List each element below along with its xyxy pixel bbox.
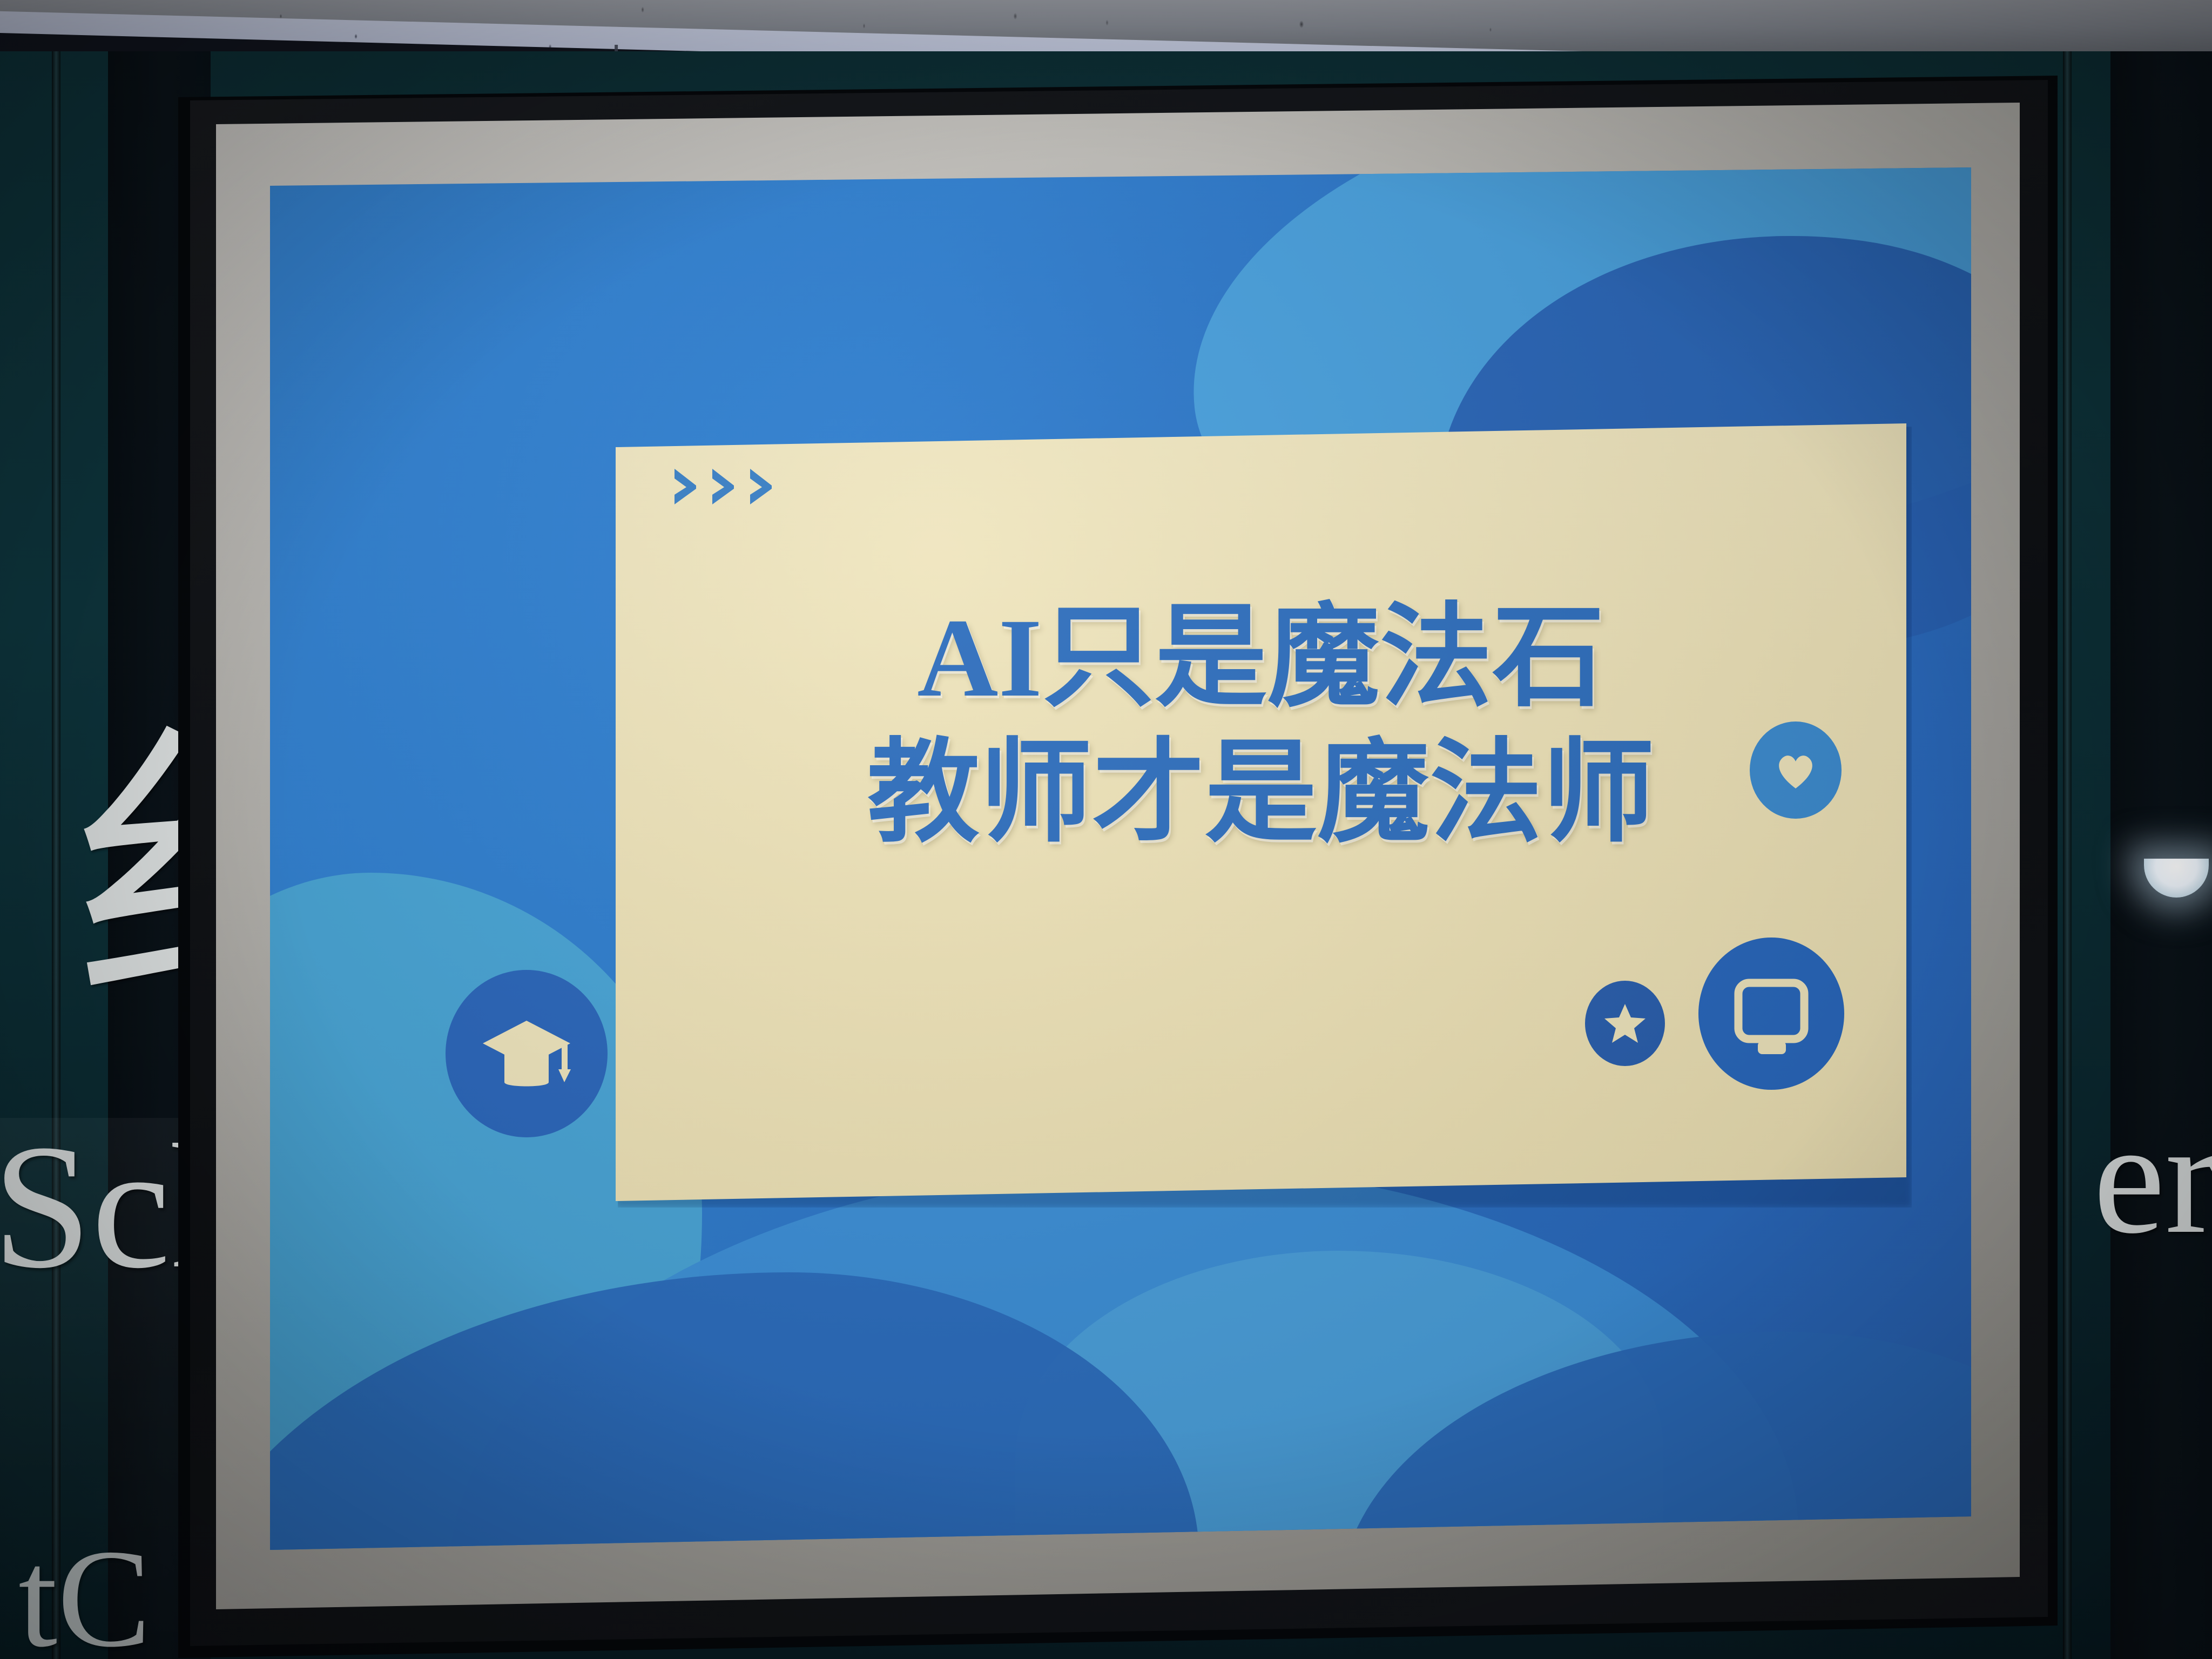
badge-heart xyxy=(1750,721,1842,819)
monitor-icon xyxy=(1731,973,1812,1054)
headline-line-2: 教师才是魔法师 xyxy=(616,731,1906,857)
projected-slide: AI只是魔法石 教师才是魔法师 xyxy=(270,167,1971,1550)
chevron-right-icon-1 xyxy=(672,468,702,505)
slide-headline: AI只是魔法石 教师才是魔法师 xyxy=(616,595,1906,857)
chevron-right-icon-3 xyxy=(748,468,777,505)
heart-icon xyxy=(1774,748,1817,792)
content-card: AI只是魔法石 教师才是魔法师 xyxy=(616,423,1906,1201)
graduation-cap-icon xyxy=(481,1013,572,1094)
glass-dark-band-right xyxy=(2110,51,2212,1659)
chevrons-decoration xyxy=(672,468,777,505)
chevron-right-icon-2 xyxy=(710,468,739,505)
signage-latin-right: er xyxy=(2093,1096,2212,1258)
screenshot-root: 纟 Sch er tC xyxy=(0,0,2212,1659)
badge-graduation-cap xyxy=(446,970,608,1137)
star-icon xyxy=(1602,1001,1648,1046)
signage-latin-lower-left: tC xyxy=(18,1528,151,1659)
glass-mullion-right xyxy=(2063,51,2072,1659)
badge-monitor xyxy=(1698,938,1844,1090)
headline-line-1: AI只是魔法石 xyxy=(616,595,1906,721)
badge-star xyxy=(1585,981,1665,1066)
slide-canvas: AI只是魔法石 教师才是魔法师 xyxy=(270,167,1971,1550)
